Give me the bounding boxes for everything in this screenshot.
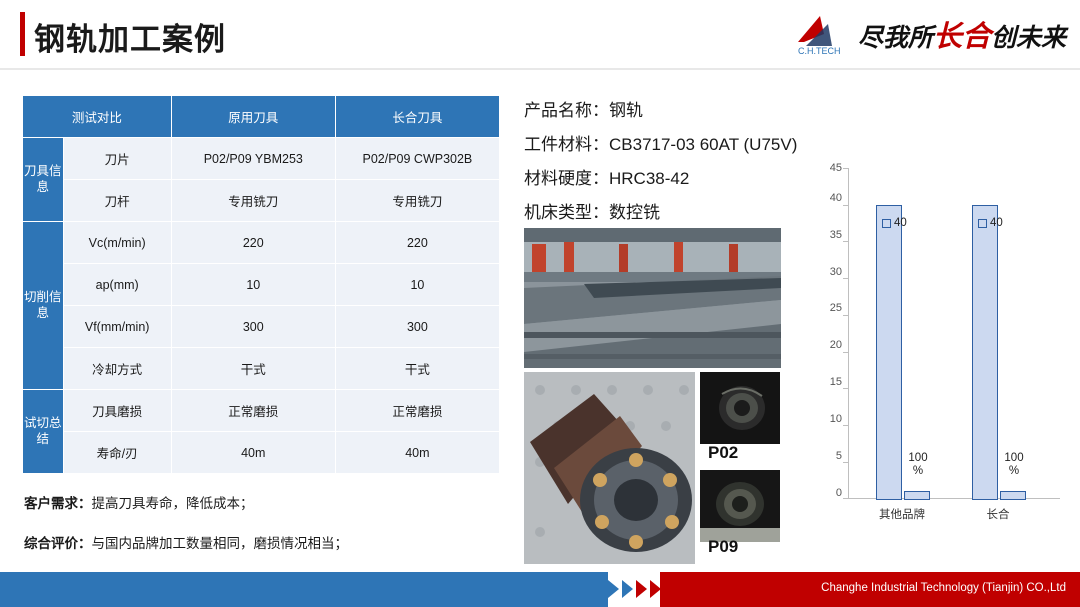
table-group-label-cutting: 切削信息: [23, 222, 64, 390]
comparison-table: 测试对比 原用刀具 长合刀具 刀具信息 刀片 P02/P09 YBM253 P0…: [22, 95, 500, 474]
chart-ytick-10: 10: [820, 413, 842, 425]
table-header-cell-1: 原用刀具: [171, 96, 335, 138]
chart-bar-label-other-pct: 100%: [898, 452, 938, 478]
table-row-label: 刀片: [63, 138, 171, 180]
logo-slogan-red1: 长: [933, 21, 962, 53]
chart-bar-label-changhe-life: 40: [978, 217, 1003, 229]
footer-chevron-blue-1: [608, 580, 619, 598]
product-name-line: 产品名称：钢轨: [524, 96, 643, 121]
table-cell-original: 10: [171, 264, 335, 306]
header-divider: [0, 68, 1080, 70]
workpiece-material-line: 工件材料：CB3717-03 60AT (U75V): [524, 130, 797, 155]
table-row-label: Vc(m/min): [63, 222, 171, 264]
material-hardness-line: 材料硬度：HRC38-42: [524, 164, 689, 189]
chart-ytick-15: 15: [820, 376, 842, 388]
table-cell-original: 300: [171, 306, 335, 348]
table-row-label: 冷却方式: [63, 348, 171, 390]
logo-slogan-post: 创未来: [991, 25, 1066, 52]
machine-type-line: 机床类型：数控铣: [524, 198, 660, 223]
note-label: 综合评价：: [24, 536, 92, 551]
table-row: 寿命/刃 40m 40m: [23, 432, 500, 474]
note-label: 客户需求：: [24, 496, 92, 511]
chart-bar-changhe-pct: [1000, 491, 1026, 500]
chart-ytick-35: 35: [820, 229, 842, 241]
rail-production-line-photo: [524, 228, 781, 368]
table-row-label: 寿命/刃: [63, 432, 171, 474]
title-accent-bar: [20, 12, 25, 56]
logo-mark-icon: C.H.TECH: [794, 12, 850, 56]
chart-y-axis: [848, 168, 849, 498]
logo-slogan-pre: 尽我所: [858, 25, 933, 52]
table-cell-changhe: 正常磨损: [335, 390, 499, 432]
note-overall-evaluation: 综合评价：与国内品牌加工数量相同，磨损情况相当；: [24, 532, 348, 552]
table-header-cell-0: 测试对比: [23, 96, 172, 138]
logo-text: C.H.TECH: [798, 46, 841, 56]
table-cell-changhe: P02/P09 CWP302B: [335, 138, 499, 180]
chart-ytick-20: 20: [820, 339, 842, 351]
chart-ytick-5: 5: [820, 450, 842, 462]
insert-p09-caption: P09: [708, 537, 738, 557]
chart-legend-swatch-icon: [882, 219, 891, 228]
table-cell-original: P02/P09 YBM253: [171, 138, 335, 180]
life-comparison-chart: 45 40 35 30 25 20 15 10 5 0 40 100% 40 1…: [820, 162, 1065, 540]
table-cell-original: 干式: [171, 348, 335, 390]
insert-p02-photo: [700, 372, 780, 444]
chart-ytick-25: 25: [820, 302, 842, 314]
note-text: 提高刀具寿命，降低成本；: [92, 496, 254, 511]
table-cell-changhe: 40m: [335, 432, 499, 474]
table-row-label: Vf(mm/min): [63, 306, 171, 348]
table-cell-changhe: 10: [335, 264, 499, 306]
table-cell-original: 专用铣刀: [171, 180, 335, 222]
table-cell-original: 40m: [171, 432, 335, 474]
insert-p02-caption: P02: [708, 443, 738, 463]
table-header-cell-2: 长合刀具: [335, 96, 499, 138]
table-row: 刀杆 专用铣刀 专用铣刀: [23, 180, 500, 222]
milling-cutter-head-photo: [524, 372, 695, 564]
table-row: ap(mm) 10 10: [23, 264, 500, 306]
table-row-label: 刀具磨损: [63, 390, 171, 432]
chart-ytick-0: 0: [820, 487, 842, 499]
chart-ytick-30: 30: [820, 266, 842, 278]
chart-legend-swatch-icon: [978, 219, 987, 228]
table-row-label: ap(mm): [63, 264, 171, 306]
table-cell-changhe: 专用铣刀: [335, 180, 499, 222]
table-cell-original: 220: [171, 222, 335, 264]
table-group-label-tool: 刀具信息: [23, 138, 64, 222]
table-header-row: 测试对比 原用刀具 长合刀具: [23, 96, 500, 138]
footer-company-text: Changhe Industrial Technology (Tianjin) …: [821, 582, 1066, 594]
chart-bar-label-changhe-pct: 100%: [994, 452, 1034, 478]
footer-blue-band: [0, 572, 608, 607]
footer-chevron-red-1: [636, 580, 647, 598]
chart-xtick-other: 其他品牌: [862, 506, 942, 522]
table-row: 刀具信息 刀片 P02/P09 YBM253 P02/P09 CWP302B: [23, 138, 500, 180]
chart-ytick-40: 40: [820, 192, 842, 204]
page-title: 钢轨加工案例: [34, 14, 226, 59]
page-footer: Changhe Industrial Technology (Tianjin) …: [0, 572, 1080, 607]
table-row: Vf(mm/min) 300 300: [23, 306, 500, 348]
company-logo: C.H.TECH 尽我所长合创未来: [794, 10, 1066, 58]
table-row: 冷却方式 干式 干式: [23, 348, 500, 390]
footer-chevron-blue-2: [622, 580, 633, 598]
table-row-label: 刀杆: [63, 180, 171, 222]
page-header: 钢轨加工案例 C.H.TECH 尽我所长合创未来: [0, 0, 1080, 68]
table-cell-changhe: 300: [335, 306, 499, 348]
table-cell-changhe: 干式: [335, 348, 499, 390]
logo-slogan: 尽我所长合创未来: [858, 13, 1066, 55]
note-customer-requirement: 客户需求：提高刀具寿命，降低成本；: [24, 492, 254, 512]
table-cell-changhe: 220: [335, 222, 499, 264]
chart-ytick-45: 45: [820, 162, 842, 174]
logo-slogan-red2: 合: [962, 21, 991, 53]
table-row: 切削信息 Vc(m/min) 220 220: [23, 222, 500, 264]
chart-xtick-changhe: 长合: [958, 506, 1038, 522]
chart-bar-other-pct: [904, 491, 930, 500]
table-group-label-summary: 试切总结: [23, 390, 64, 474]
note-text: 与国内品牌加工数量相同，磨损情况相当；: [92, 536, 349, 551]
chart-bar-label-other-life: 40: [882, 217, 907, 229]
insert-p09-photo: [700, 470, 780, 542]
table-cell-original: 正常磨损: [171, 390, 335, 432]
table-row: 试切总结 刀具磨损 正常磨损 正常磨损: [23, 390, 500, 432]
